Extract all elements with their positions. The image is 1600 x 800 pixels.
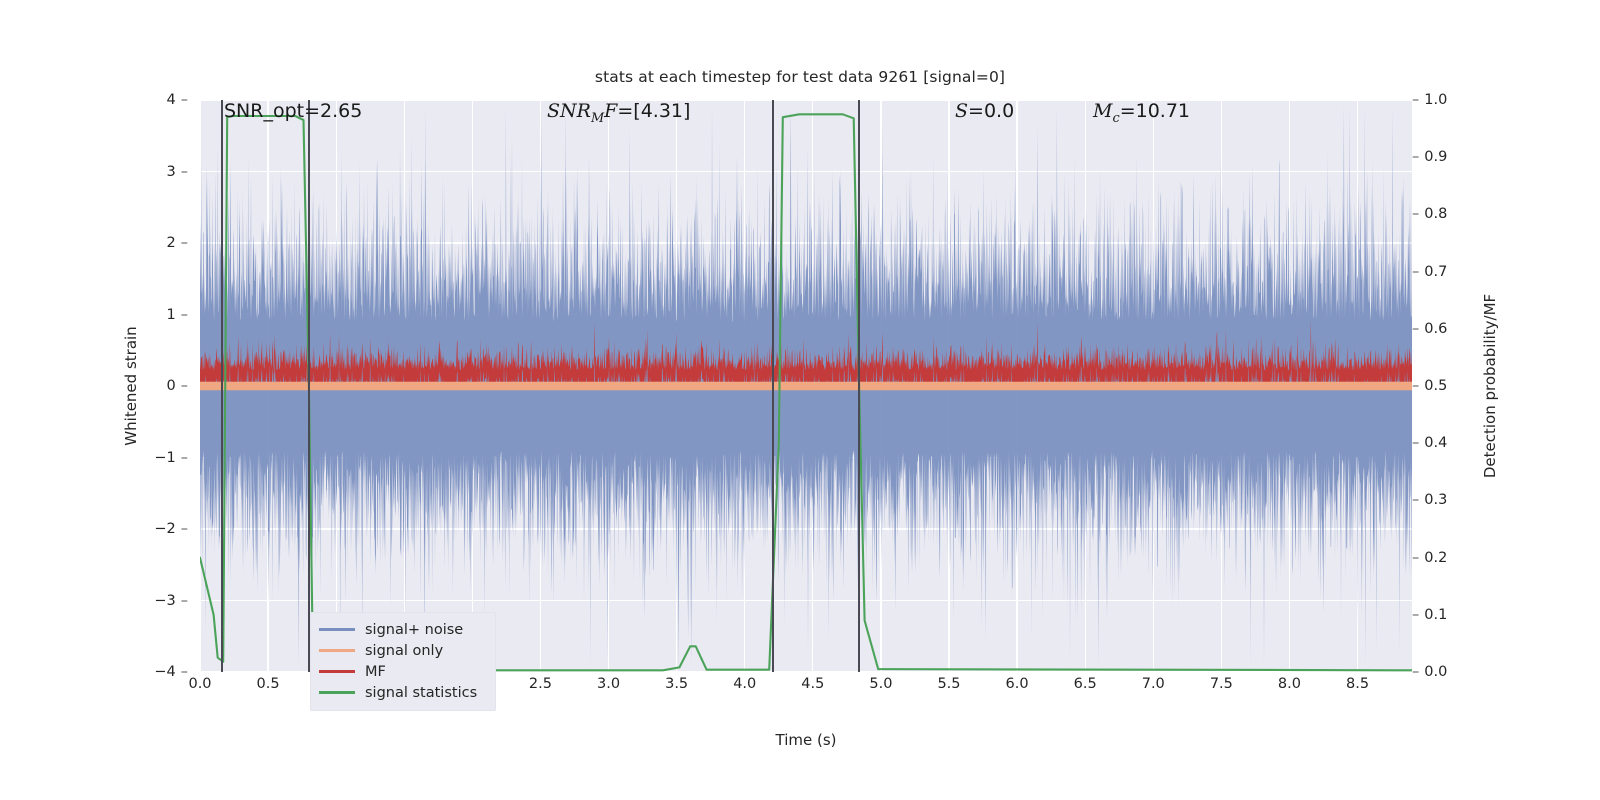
legend-label: signal+ noise [365,622,463,638]
tick-mark: – [1412,149,1419,165]
tick-mark: – [181,378,188,394]
tick-mark: – [181,235,188,251]
legend-item[interactable]: signal statistics [319,682,487,703]
y-tick-right: –0.2 [1412,550,1447,566]
y-tick-right: –1.0 [1412,92,1447,108]
x-tick: 5.5 [937,676,960,692]
annotation-snr-mf: SNRMF=[4.31] [547,100,690,126]
annotation-mc: Mc=10.71 [1093,100,1190,126]
y-tick-left-label: 3 [167,164,176,180]
y-tick-right: –0.6 [1412,321,1447,337]
y-tick-left: 2– [167,235,188,251]
s-value: =0.0 [968,100,1014,122]
y-axis-right-label: Detection probability/MF [1481,294,1499,478]
x-tick: 7.5 [1210,676,1233,692]
vertical-marker-line [858,100,860,672]
y-tick-right: –0.5 [1412,378,1447,394]
snr-mf-value: =[4.31] [617,100,690,122]
y-tick-left-label: 2 [167,235,176,251]
vertical-marker-line [772,100,774,672]
y-tick-right: –0.7 [1412,264,1447,280]
tick-mark: – [1412,206,1419,222]
y-tick-right-label: 0.2 [1424,550,1447,566]
legend-color-swatch [319,649,355,651]
y-tick-right-label: 0.7 [1424,264,1447,280]
tick-mark: – [1412,321,1419,337]
x-tick: 3.0 [597,676,620,692]
y-tick-right: –0.3 [1412,492,1447,508]
y-tick-left: 1– [167,307,188,323]
tick-mark: – [181,521,188,537]
tick-mark: – [1412,664,1419,680]
vertical-marker-line [221,100,223,672]
tick-mark: – [1412,378,1419,394]
x-tick: 4.5 [801,676,824,692]
legend-item[interactable]: signal only [319,640,487,661]
legend-item[interactable]: signal+ noise [319,619,487,640]
y-tick-left-label: −2 [154,521,175,537]
annotation-s: S=0.0 [955,100,1014,122]
x-tick: 6.5 [1074,676,1097,692]
x-tick: 0.0 [188,676,211,692]
tick-mark: – [1412,492,1419,508]
y-tick-left-label: −1 [154,450,175,466]
y-tick-right-label: 0.4 [1424,435,1447,451]
annotation-snr-opt: SNR_opt=2.65 [224,100,362,122]
tick-mark: – [181,92,188,108]
tick-mark: – [1412,92,1419,108]
legend-label: signal only [365,643,443,659]
vertical-marker-line [308,100,310,672]
y-tick-left: 0– [167,378,188,394]
tick-mark: – [181,450,188,466]
tick-mark: – [1412,607,1419,623]
y-tick-left: −1– [154,450,188,466]
x-tick: 5.0 [869,676,892,692]
legend-label: signal statistics [365,685,477,701]
x-tick: 7.0 [1142,676,1165,692]
y-tick-right: –0.4 [1412,435,1447,451]
x-axis-label: Time (s) [776,731,837,749]
x-tick: 8.5 [1346,676,1369,692]
page-title: stats at each timestep for test data 926… [0,68,1600,86]
legend-color-swatch [319,628,355,630]
y-tick-right-label: 0.1 [1424,607,1447,623]
legend[interactable]: signal+ noisesignal onlyMFsignal statist… [310,612,496,711]
y-tick-left: −3– [154,593,188,609]
tick-mark: – [181,307,188,323]
y-tick-left-label: −3 [154,593,175,609]
x-tick: 8.0 [1278,676,1301,692]
y-tick-right: –0.8 [1412,206,1447,222]
y-tick-left-label: −4 [154,664,175,680]
y-tick-left: 4– [167,92,188,108]
y-tick-left: −4– [154,664,188,680]
legend-label: MF [365,664,386,680]
y-tick-right-label: 0.8 [1424,206,1447,222]
mc-symbol: M [1093,100,1112,122]
snr-mf-rest: F [604,100,617,122]
tick-mark: – [1412,550,1419,566]
y-tick-left-label: 0 [167,378,176,394]
y-tick-left: −2– [154,521,188,537]
tick-mark: – [181,164,188,180]
y-tick-right-label: 0.3 [1424,492,1447,508]
y-tick-right: –0.0 [1412,664,1447,680]
y-tick-left-label: 1 [167,307,176,323]
legend-item[interactable]: MF [319,661,487,682]
plot-area[interactable] [200,100,1412,672]
y-tick-right-label: 0.9 [1424,149,1447,165]
x-tick: 2.5 [529,676,552,692]
data-traces [200,100,1412,672]
mc-subscript: c [1112,111,1119,126]
tick-mark: – [181,593,188,609]
y-tick-left: 3– [167,164,188,180]
tick-mark: – [1412,264,1419,280]
s-symbol: S [955,100,968,122]
y-tick-right: –0.1 [1412,607,1447,623]
x-tick: 4.0 [733,676,756,692]
legend-color-swatch [319,670,355,672]
series-signal-only [200,382,1412,391]
y-tick-left-label: 4 [167,92,176,108]
snr-mf-prefix: SNR [547,100,591,122]
snr-mf-subscript: M [591,111,604,126]
mc-value: =10.71 [1120,100,1190,122]
x-tick: 3.5 [665,676,688,692]
tick-mark: – [181,664,188,680]
y-tick-right-label: 0.0 [1424,664,1447,680]
x-tick: 6.0 [1006,676,1029,692]
tick-mark: – [1412,435,1419,451]
y-tick-right-label: 1.0 [1424,92,1447,108]
y-tick-right-label: 0.5 [1424,378,1447,394]
y-axis-left-label: Whitened strain [122,326,140,445]
x-tick: 0.5 [257,676,280,692]
y-tick-right-label: 0.6 [1424,321,1447,337]
y-tick-right: –0.9 [1412,149,1447,165]
legend-color-swatch [319,691,355,693]
figure-canvas: stats at each timestep for test data 926… [0,0,1600,800]
signal-only-trace [200,382,1412,391]
